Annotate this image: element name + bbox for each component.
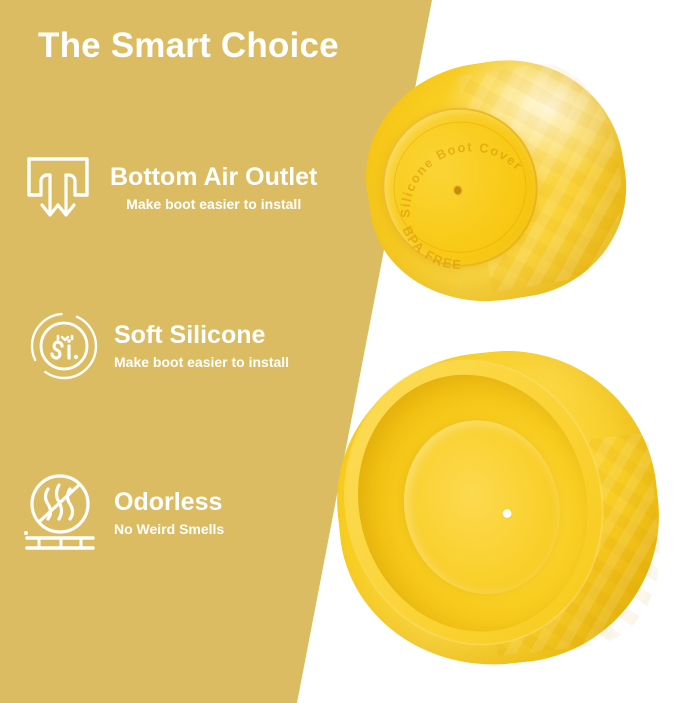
no-odor-icon (20, 470, 100, 556)
feature-subtitle: Make boot easier to install (114, 354, 289, 370)
feature-subtitle: No Weird Smells (114, 521, 224, 537)
feature-bottom-air-outlet: Bottom Air Outlet Make boot easier to in… (20, 148, 317, 228)
feature-text: Soft Silicone Make boot easier to instal… (114, 322, 289, 369)
feature-title: Soft Silicone (114, 322, 289, 348)
emboss-upper-text: Silicone Boot Cover (383, 125, 533, 222)
feature-subtitle: Make boot easier to install (110, 196, 317, 212)
feature-title: Odorless (114, 489, 224, 515)
page-title: The Smart Choice (38, 26, 339, 66)
silicone-si-icon (28, 310, 100, 382)
product-image-boot-cover-bottom: Silicone Boot Cover BPA FREE (350, 43, 642, 318)
product-infographic: The Smart Choice Bottom Air Outlet Make … (0, 0, 679, 703)
feature-odorless: Odorless No Weird Smells (20, 470, 224, 556)
air-vent-hole (502, 507, 513, 518)
air-outlet-icon (20, 148, 96, 228)
feature-text: Bottom Air Outlet Make boot easier to in… (110, 164, 317, 211)
feature-title: Bottom Air Outlet (110, 164, 317, 190)
feature-soft-silicone: Soft Silicone Make boot easier to instal… (28, 310, 289, 382)
product-image-boot-cover-open (323, 336, 674, 680)
feature-text: Odorless No Weird Smells (114, 489, 224, 536)
